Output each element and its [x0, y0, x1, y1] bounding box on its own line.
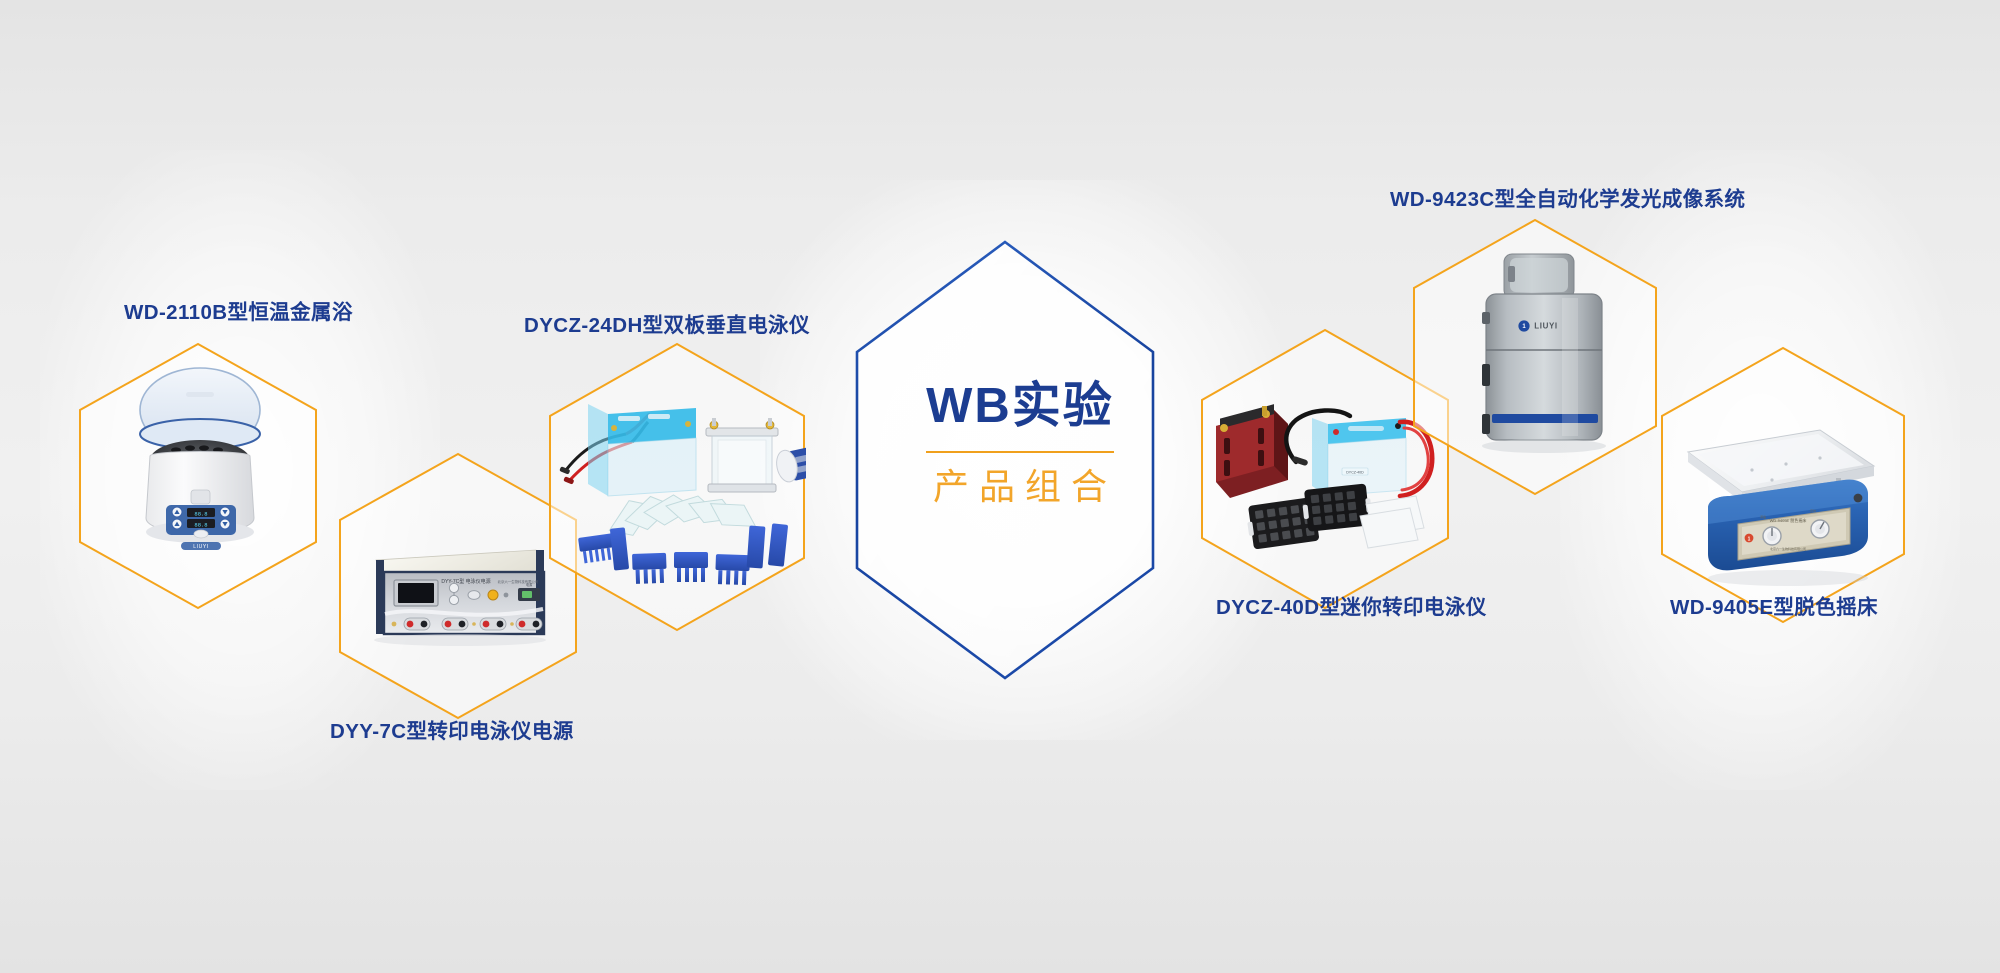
destaining-shaker-image: 1 WD-9405E 脱色摇床 北京六一生物科技有限公司 调速 定时 — [1660, 346, 1906, 624]
vertical-electrophoresis-cell-image — [548, 342, 806, 632]
svg-text:定时: 定时 — [1810, 508, 1816, 513]
svg-text:LIUYI: LIUYI — [193, 544, 209, 550]
svg-text:DYY-7C型 电泳仪电源: DYY-7C型 电泳仪电源 — [441, 578, 490, 585]
svg-text:调速: 调速 — [1760, 514, 1766, 519]
svg-text:88.8: 88.8 — [194, 522, 207, 529]
poster-canvas: WB实验 产品组合 — [0, 0, 2000, 973]
product-hexagon-dycz-24dh[interactable] — [548, 342, 806, 632]
product-label-dycz-40d: DYCZ-40D型迷你转印电泳仪 — [1216, 598, 1487, 619]
product-label-wd-9423c: WD-9423C型全自动化学发光成像系统 — [1390, 190, 1745, 211]
electrophoresis-power-supply-image: DYY-7C型 电泳仪电源 北京六一生物科技有限公司 电源 — [338, 452, 578, 720]
svg-text:北京六一生物科技有限公司: 北京六一生物科技有限公司 — [498, 579, 539, 584]
product-hexagon-dyy-7c[interactable]: DYY-7C型 电泳仪电源 北京六一生物科技有限公司 电源 — [338, 452, 578, 720]
product-label-dycz-24dh: DYCZ-24DH型双板垂直电泳仪 — [524, 316, 810, 337]
svg-text:88.8: 88.8 — [194, 511, 207, 518]
svg-text:北京六一生物科技有限公司: 北京六一生物科技有限公司 — [1770, 546, 1806, 551]
product-label-dyy-7c: DYY-7C型转印电泳仪电源 — [330, 722, 574, 743]
svg-text:1: 1 — [1748, 536, 1751, 542]
product-hexagon-wd-2110b[interactable]: 88.8 88.8 LIUYI — [78, 342, 318, 610]
product-hexagon-wd-9423c[interactable]: 1 LIUYI — [1412, 218, 1658, 496]
svg-text:LIUYI: LIUYI — [1534, 322, 1557, 331]
svg-text:电源: 电源 — [526, 582, 533, 587]
product-label-wd-9405e: WD-9405E型脱色摇床 — [1670, 598, 1878, 619]
center-title-block: WB实验 产品组合 — [860, 382, 1180, 505]
chemiluminescence-imaging-system-image: 1 LIUYI — [1412, 218, 1658, 496]
center-title-rule — [926, 451, 1114, 453]
center-title-sub: 产品组合 — [860, 469, 1180, 505]
svg-text:DYCZ-40D: DYCZ-40D — [1346, 471, 1364, 475]
product-hexagon-wd-9405e[interactable]: 1 WD-9405E 脱色摇床 北京六一生物科技有限公司 调速 定时 — [1660, 346, 1906, 624]
product-label-wd-2110b: WD-2110B型恒温金属浴 — [124, 303, 353, 324]
svg-text:WD-9405E 脱色摇床: WD-9405E 脱色摇床 — [1770, 517, 1807, 523]
center-title-main: WB实验 — [860, 382, 1180, 431]
dry-bath-incubator-image: 88.8 88.8 LIUYI — [78, 342, 318, 610]
